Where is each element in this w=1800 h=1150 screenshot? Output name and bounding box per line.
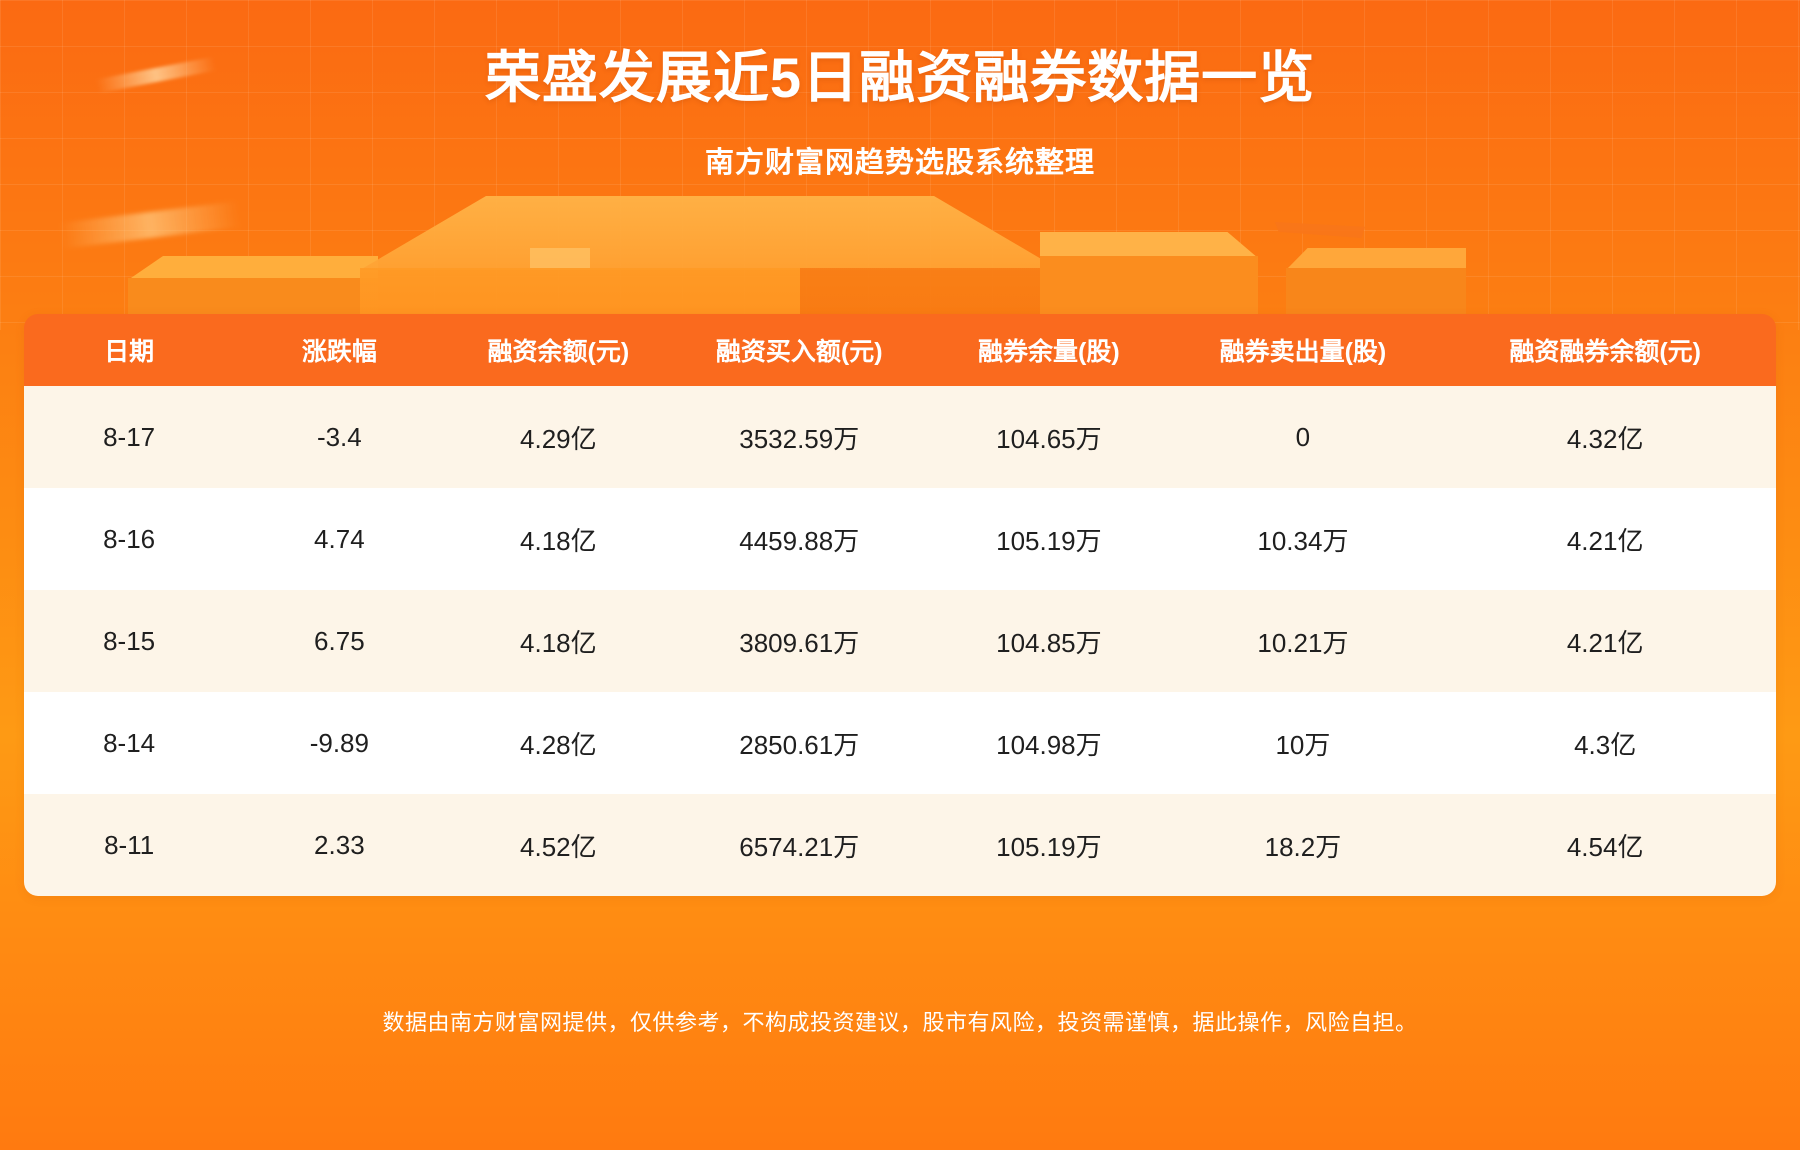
column-header-date: 日期	[24, 314, 234, 386]
cell-short-sell: 10.21万	[1172, 590, 1435, 692]
cell-margin-balance: 4.28亿	[444, 692, 672, 794]
margin-trading-table: 日期 涨跌幅 融资余额(元) 融资买入额(元) 融券余量(股) 融券卖出量(股)…	[24, 314, 1776, 896]
cell-change-pct: 4.74	[234, 488, 444, 590]
cell-date: 8-11	[24, 794, 234, 896]
cell-short-balance: 105.19万	[926, 794, 1171, 896]
cell-short-sell: 18.2万	[1172, 794, 1435, 896]
podium-block-left-top	[128, 256, 378, 280]
cell-change-pct: 2.33	[234, 794, 444, 896]
cell-margin-buy: 2850.61万	[672, 692, 926, 794]
cell-date: 8-15	[24, 590, 234, 692]
cell-margin-buy: 6574.21万	[672, 794, 926, 896]
cell-change-pct: -9.89	[234, 692, 444, 794]
light-streak-decoration	[59, 201, 241, 249]
data-table-card: 日期 涨跌幅 融资余额(元) 融资买入额(元) 融券余量(股) 融券卖出量(股)…	[24, 314, 1776, 896]
cell-total-balance: 4.32亿	[1434, 386, 1776, 488]
page-title: 荣盛发展近5日融资融券数据一览	[0, 46, 1800, 111]
table-row: 8-15 6.75 4.18亿 3809.61万 104.85万 10.21万 …	[24, 590, 1776, 692]
table-row: 8-16 4.74 4.18亿 4459.88万 105.19万 10.34万 …	[24, 488, 1776, 590]
column-header-margin-buy: 融资买入额(元)	[672, 314, 926, 386]
cell-margin-balance: 4.18亿	[444, 590, 672, 692]
cell-short-sell: 10万	[1172, 692, 1435, 794]
table-body: 8-17 -3.4 4.29亿 3532.59万 104.65万 0 4.32亿…	[24, 386, 1776, 896]
cell-date: 8-17	[24, 386, 234, 488]
column-header-short-sell: 融券卖出量(股)	[1172, 314, 1435, 386]
table-header-row: 日期 涨跌幅 融资余额(元) 融资买入额(元) 融券余量(股) 融券卖出量(股)…	[24, 314, 1776, 386]
poster-page: 荣盛发展近5日融资融券数据一览 南方财富网趋势选股系统整理 南方财富网 Sout…	[0, 0, 1800, 1150]
cell-margin-buy: 3809.61万	[672, 590, 926, 692]
cell-date: 8-16	[24, 488, 234, 590]
table-row: 8-17 -3.4 4.29亿 3532.59万 104.65万 0 4.32亿	[24, 386, 1776, 488]
podium-block-far-right-top	[1286, 248, 1466, 270]
cell-margin-balance: 4.18亿	[444, 488, 672, 590]
podium-center-top	[360, 196, 1060, 270]
column-header-margin-balance: 融资余额(元)	[444, 314, 672, 386]
table-header: 日期 涨跌幅 融资余额(元) 融资买入额(元) 融券余量(股) 融券卖出量(股)…	[24, 314, 1776, 386]
cell-total-balance: 4.21亿	[1434, 488, 1776, 590]
podium-block-right-top	[1040, 232, 1258, 258]
cell-short-sell: 10.34万	[1172, 488, 1435, 590]
cell-change-pct: 6.75	[234, 590, 444, 692]
column-header-change-pct: 涨跌幅	[234, 314, 444, 386]
cell-total-balance: 4.21亿	[1434, 590, 1776, 692]
column-header-total-balance: 融资融券余额(元)	[1434, 314, 1776, 386]
column-header-short-balance: 融券余量(股)	[926, 314, 1171, 386]
cell-margin-buy: 4459.88万	[672, 488, 926, 590]
cell-short-balance: 104.65万	[926, 386, 1171, 488]
footer-disclaimer: 数据由南方财富网提供，仅供参考，不构成投资建议，股市有风险，投资需谨慎，据此操作…	[0, 1005, 1800, 1037]
cell-margin-balance: 4.52亿	[444, 794, 672, 896]
cell-total-balance: 4.3亿	[1434, 692, 1776, 794]
table-row: 8-11 2.33 4.52亿 6574.21万 105.19万 18.2万 4…	[24, 794, 1776, 896]
cell-date: 8-14	[24, 692, 234, 794]
cell-short-balance: 105.19万	[926, 488, 1171, 590]
cell-margin-buy: 3532.59万	[672, 386, 926, 488]
cell-short-balance: 104.98万	[926, 692, 1171, 794]
cell-total-balance: 4.54亿	[1434, 794, 1776, 896]
cell-short-balance: 104.85万	[926, 590, 1171, 692]
podium-notch-decoration	[530, 248, 590, 270]
cell-margin-balance: 4.29亿	[444, 386, 672, 488]
hero-section: 荣盛发展近5日融资融券数据一览 南方财富网趋势选股系统整理	[0, 0, 1800, 181]
table-row: 8-14 -9.89 4.28亿 2850.61万 104.98万 10万 4.…	[24, 692, 1776, 794]
cell-change-pct: -3.4	[234, 386, 444, 488]
page-subtitle: 南方财富网趋势选股系统整理	[0, 139, 1800, 181]
cell-short-sell: 0	[1172, 386, 1435, 488]
arrow-streak-decoration	[1275, 222, 1365, 238]
